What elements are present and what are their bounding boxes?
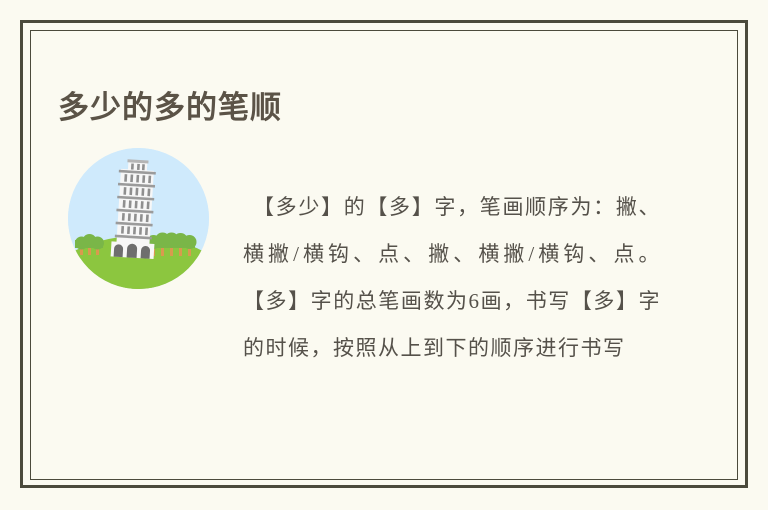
leaning-tower-of-pisa-illustration (68, 148, 209, 289)
article-body-text: 【多少】的【多】字，笔画顺序为：撇、横撇/横钩、点、撇、横撇/横钩、点。【多】字… (243, 184, 661, 372)
illustration-svg (68, 148, 209, 289)
page-content: 多少的多的笔顺 (0, 0, 768, 510)
page-title: 多少的多的笔顺 (58, 87, 282, 129)
article-page: 多少的多的笔顺 (0, 0, 768, 510)
